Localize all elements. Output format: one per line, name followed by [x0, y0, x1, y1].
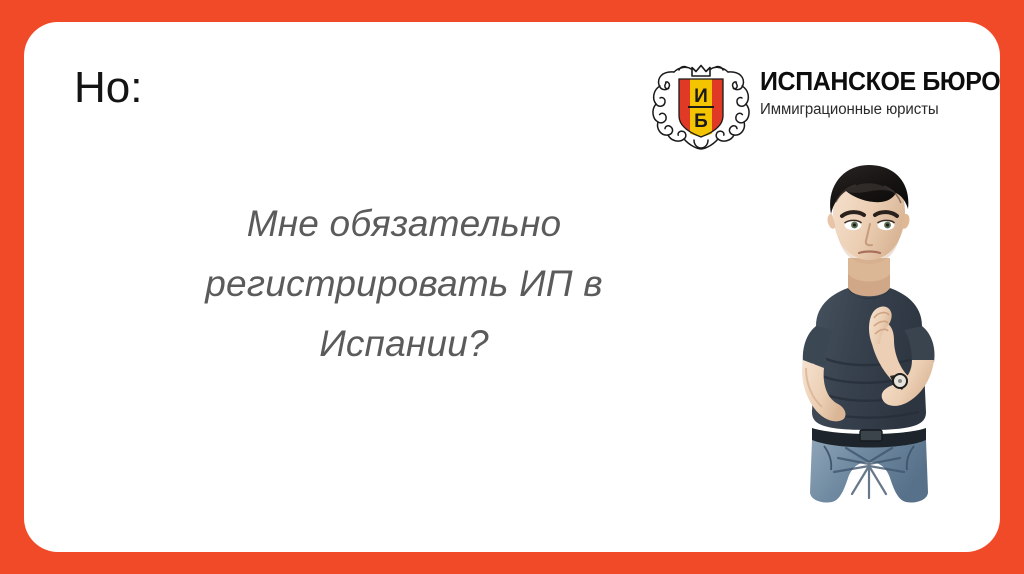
- svg-text:И: И: [694, 86, 708, 107]
- headline-line-3: Испании?: [84, 314, 724, 374]
- logo-subtitle: Иммиграционные юристы: [760, 101, 979, 118]
- slide-card: Но:: [24, 22, 1000, 552]
- headline-line-2: регистрировать ИП в: [84, 254, 724, 314]
- brand-logo: И Б ИСПАНСКОЕ БЮРО Иммиграционные юристы: [646, 54, 986, 150]
- logo-text-block: ИСПАНСКОЕ БЮРО Иммиграционные юристы: [760, 68, 986, 118]
- slide-root: Но:: [0, 0, 1024, 574]
- logo-title: ИСПАНСКОЕ БЮРО: [760, 68, 977, 95]
- thinking-man-illustration: [776, 162, 962, 504]
- svg-text:Б: Б: [694, 111, 708, 132]
- heraldic-shield-icon: И Б: [646, 54, 756, 150]
- intro-label: Но:: [74, 66, 142, 110]
- headline-question: Мне обязательно регистрировать ИП в Испа…: [84, 194, 724, 374]
- headline-line-1: Мне обязательно: [84, 194, 724, 254]
